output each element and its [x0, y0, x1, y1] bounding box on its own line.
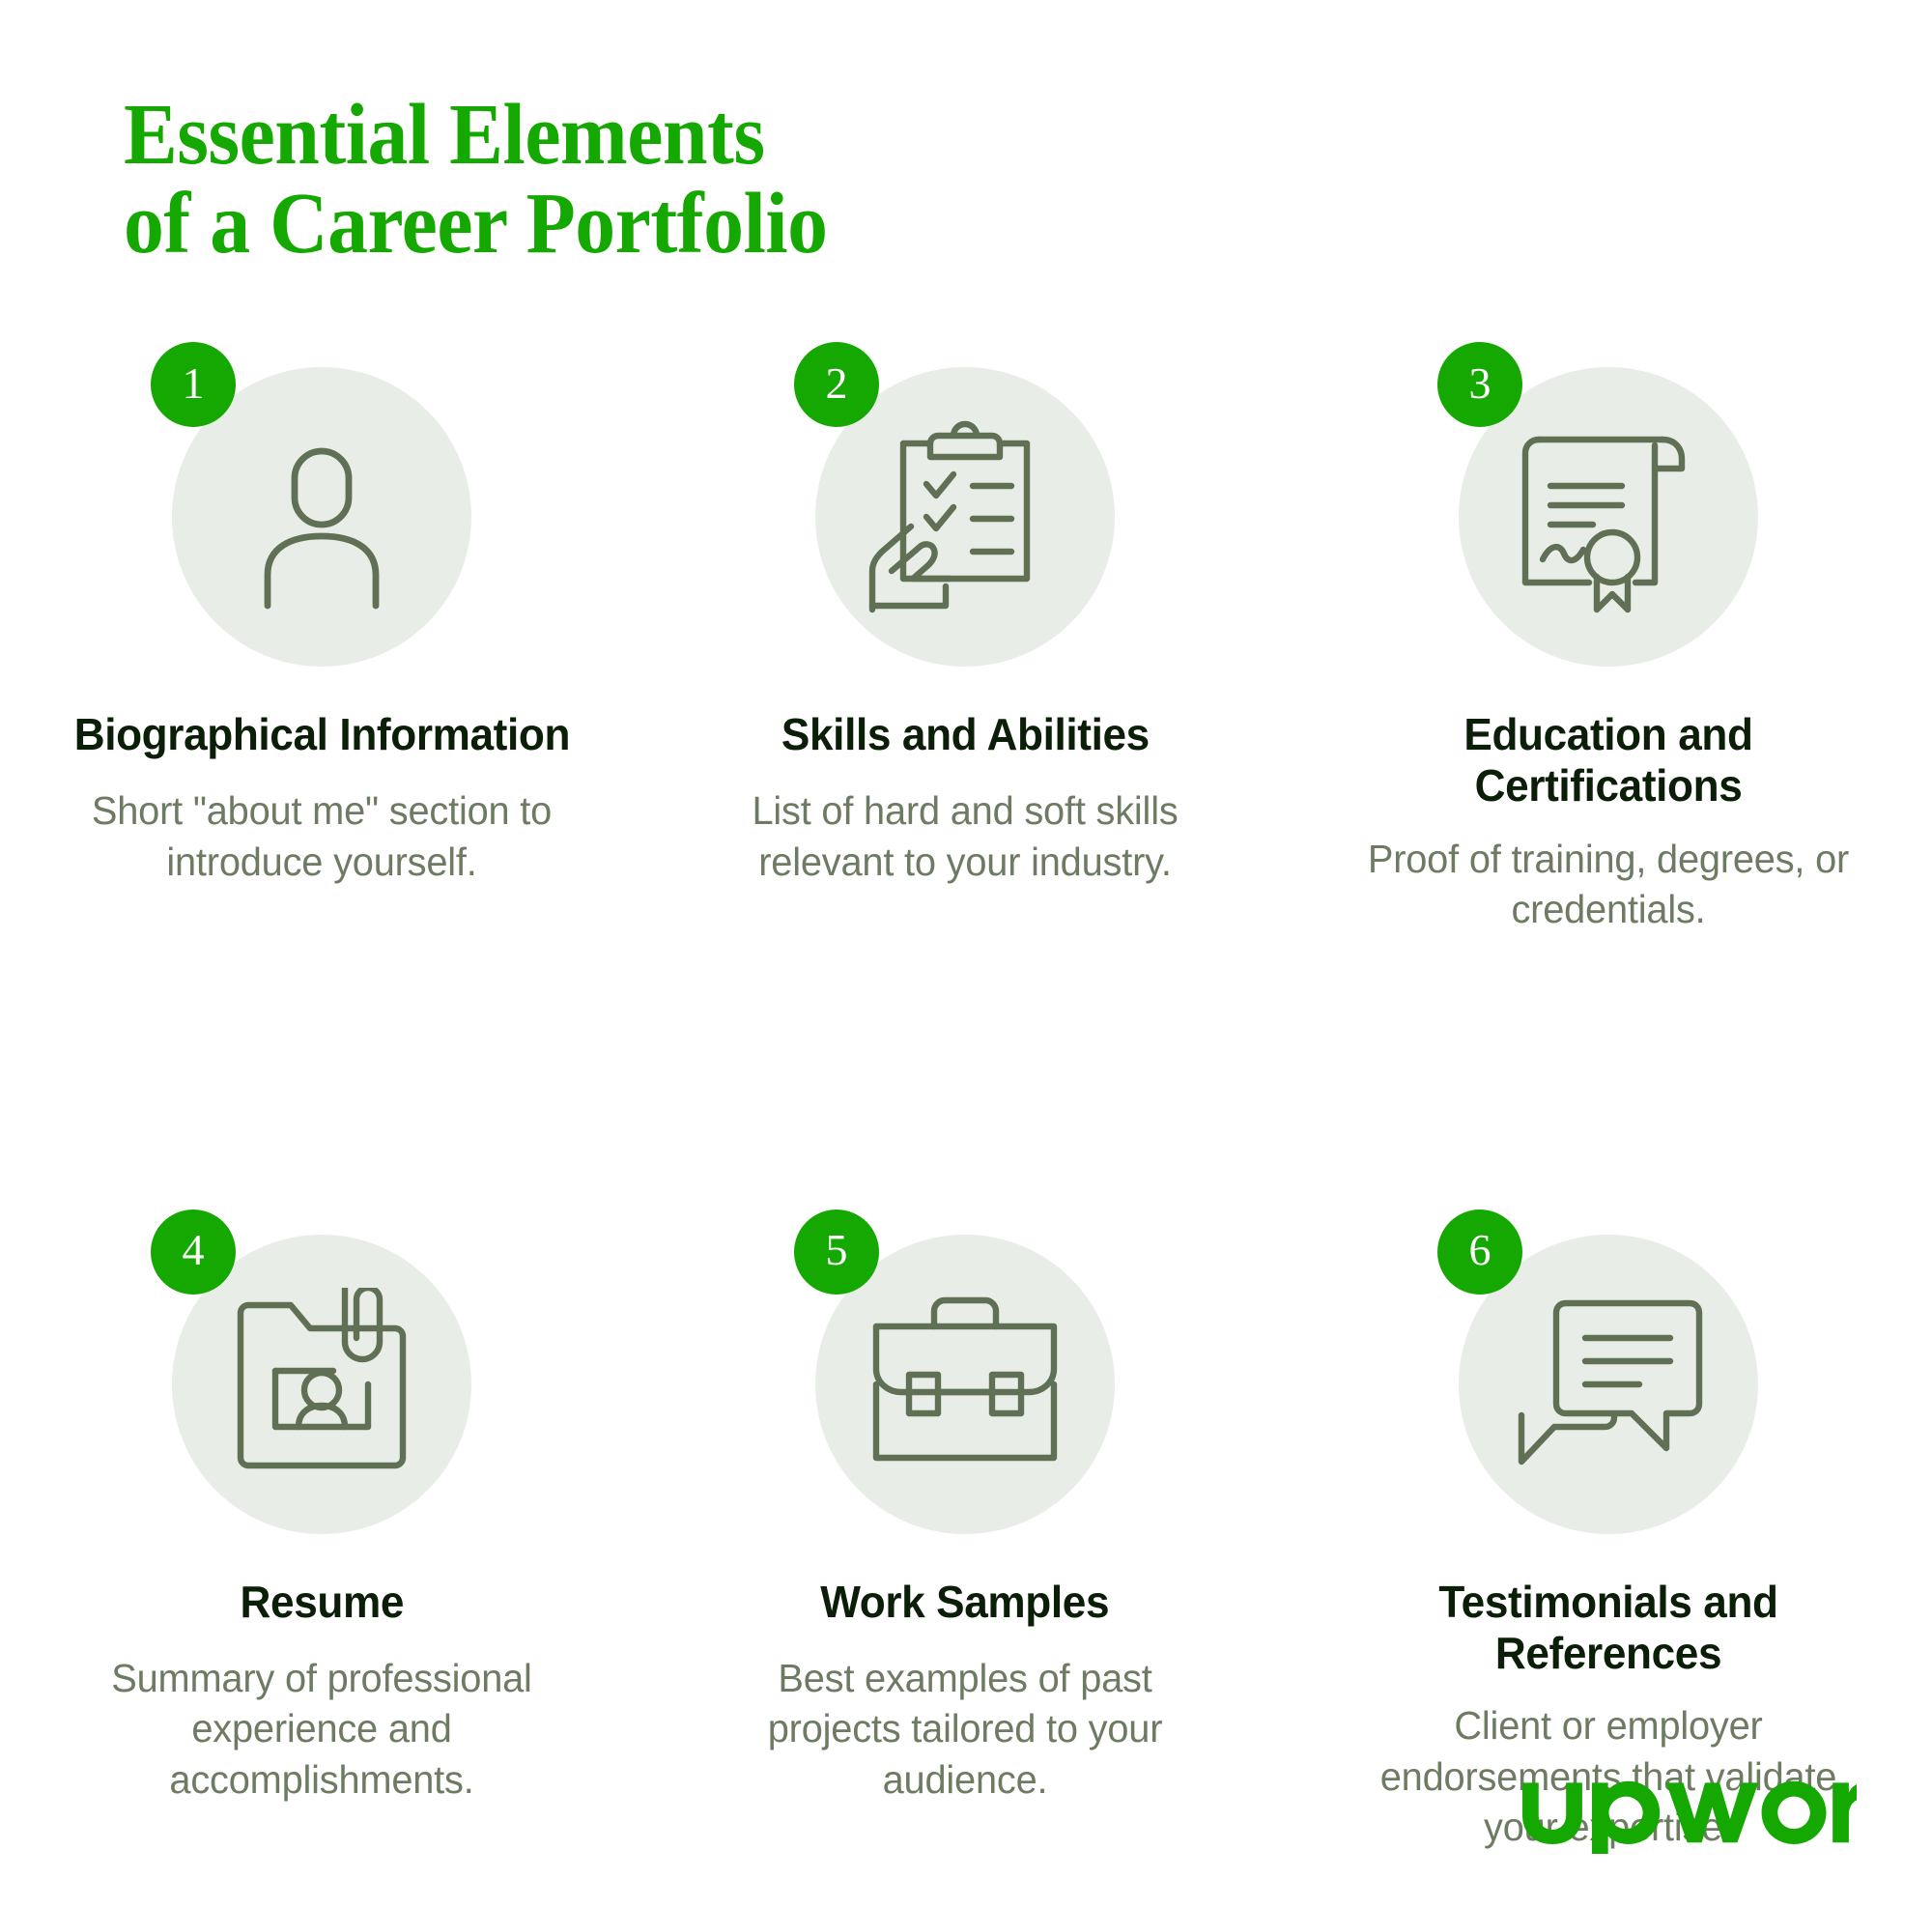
infographic-page: Essential Elements of a Career Portfolio… — [0, 0, 1932, 1907]
card-title-4: Resume — [240, 1577, 404, 1628]
step-badge-3: 3 — [1437, 342, 1522, 427]
card-education-and-certifications: 3 — [1287, 367, 1930, 935]
step-badge-5: 5 — [794, 1210, 879, 1295]
card-title-2: Skills and Abilities — [781, 709, 1150, 760]
card-desc-1: Short "about me" section to introduce yo… — [78, 785, 565, 887]
card-biographical-information: 1 Biographical Information Short "about … — [0, 367, 643, 935]
card-skills-and-abilities: 2 — [643, 367, 1287, 935]
upwork-logo — [1518, 1762, 1857, 1857]
icon-container-5: 5 — [815, 1235, 1115, 1534]
page-title-line-1: Essential Elements — [124, 91, 1112, 180]
page-title: Essential Elements of a Career Portfolio — [124, 91, 1112, 269]
card-title-5: Work Samples — [821, 1577, 1110, 1628]
icon-container-4: 4 — [172, 1235, 471, 1534]
step-badge-6: 6 — [1437, 1210, 1522, 1295]
folder-profile-paperclip-icon — [225, 1288, 418, 1481]
elements-grid: 1 Biographical Information Short "about … — [0, 367, 1932, 1853]
card-title-3: Education and Certifications — [1349, 709, 1868, 812]
card-resume: 4 R — [0, 1235, 643, 1853]
icon-container-2: 2 — [815, 367, 1115, 667]
card-desc-3: Proof of training, degrees, or credentia… — [1365, 834, 1852, 935]
step-badge-1: 1 — [151, 342, 236, 427]
person-icon — [225, 420, 418, 613]
briefcase-icon — [868, 1288, 1062, 1481]
speech-bubbles-icon — [1512, 1288, 1705, 1481]
step-badge-2: 2 — [794, 342, 879, 427]
grid-row-2: 4 R — [0, 1235, 1932, 1853]
step-badge-4: 4 — [151, 1210, 236, 1295]
icon-container-1: 1 — [172, 367, 471, 667]
grid-row-1: 1 Biographical Information Short "about … — [0, 367, 1932, 935]
card-work-samples: 5 W — [643, 1235, 1287, 1853]
certificate-seal-icon — [1512, 420, 1705, 613]
card-desc-2: List of hard and soft skills relevant to… — [722, 785, 1208, 887]
card-desc-4: Summary of professional experience and a… — [78, 1653, 565, 1805]
icon-container-3: 3 — [1459, 367, 1758, 667]
page-title-line-2: of a Career Portfolio — [124, 180, 1112, 269]
card-testimonials-and-references: 6 Testimonials and R — [1287, 1235, 1930, 1853]
icon-container-6: 6 — [1459, 1235, 1758, 1534]
card-desc-5: Best examples of past projects tailored … — [722, 1653, 1208, 1805]
card-title-6: Testimonials and References — [1349, 1577, 1868, 1680]
card-title-1: Biographical Information — [73, 709, 569, 760]
clipboard-checklist-hand-icon — [868, 420, 1062, 613]
